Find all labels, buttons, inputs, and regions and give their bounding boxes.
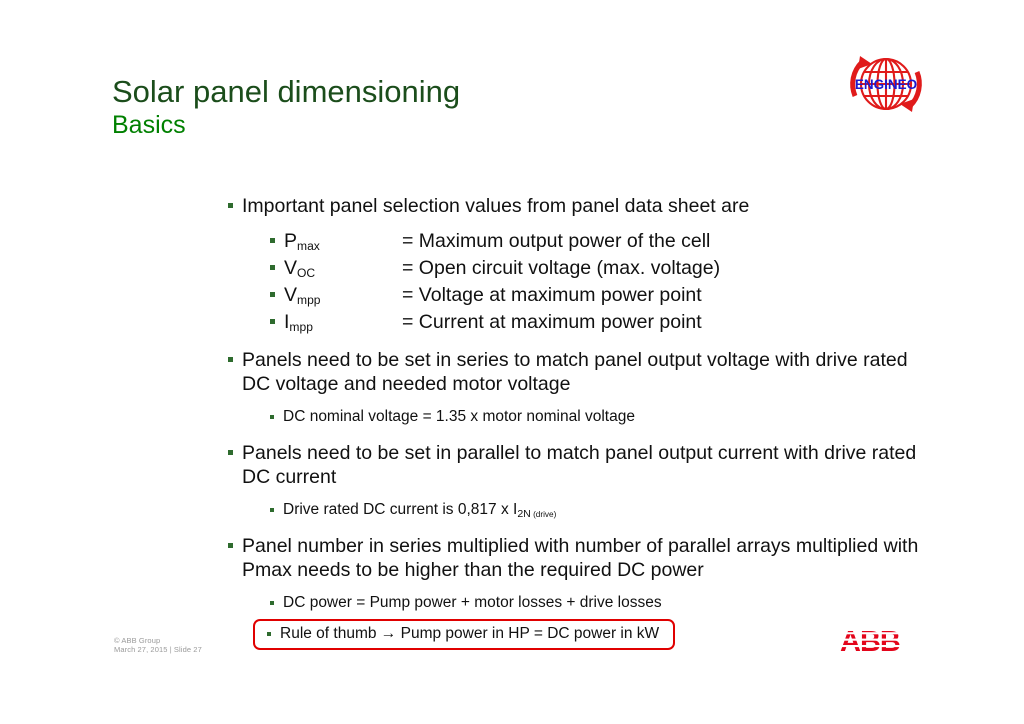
symbol-definition-voc: = Open circuit voltage (max. voltage) [402,256,720,280]
abb-wordmark: ABB [840,626,900,654]
bullet-text: Important panel selection values from pa… [242,194,749,218]
page-subtitle: Basics [112,110,460,140]
bullet-square-icon [228,357,233,362]
symbol-definition-pmax: = Maximum output power of the cell [402,229,710,253]
bullet-parallel-sub: Drive rated DC current is 0,817 x I2N (d… [270,500,928,520]
bullet-text: Panels need to be set in parallel to mat… [242,441,928,489]
bullet-text: Panel number in series multiplied with n… [242,534,928,582]
bullet-square-icon [267,632,271,636]
bullet-square-icon [270,292,275,297]
footer-copyright: © ABB Group [114,636,202,645]
symbol-definition-impp: = Current at maximum power point [402,310,702,334]
bullet-square-icon [270,238,275,243]
bullet-square-icon [228,203,233,208]
bullet-parallel: Panels need to be set in parallel to mat… [228,441,928,489]
bullet-text: Drive rated DC current is 0,817 x I2N (d… [283,500,556,520]
slide-canvas: Solar panel dimensioning Basics [0,0,1024,724]
title-block: Solar panel dimensioning Basics [112,74,460,140]
bullet-square-icon [270,508,274,512]
bullet-symbol-pmax: Pmax = Maximum output power of the cell [270,229,928,253]
symbol-key-pmax: Pmax [284,229,402,253]
bullet-series-sub: DC nominal voltage = 1.35 x motor nomina… [270,407,928,427]
symbol-key-vmpp: Vmpp [284,283,402,307]
page-title: Solar panel dimensioning [112,74,460,110]
bullet-square-icon [270,601,274,605]
bullet-text: DC power = Pump power + motor losses + d… [283,593,662,613]
footer: © ABB Group March 27, 2015 | Slide 27 [114,636,202,654]
bullet-power-sub: DC power = Pump power + motor losses + d… [270,593,928,613]
symbol-definition-vmpp: = Voltage at maximum power point [402,283,702,307]
bullet-symbol-voc: VOC = Open circuit voltage (max. voltage… [270,256,928,280]
bullet-text: DC nominal voltage = 1.35 x motor nomina… [283,407,635,427]
engineo-wordmark: ENGINEO [855,77,917,92]
bullet-square-icon [270,319,275,324]
slide-content: Important panel selection values from pa… [228,194,928,650]
footer-date-slide: March 27, 2015 | Slide 27 [114,645,202,654]
symbol-key-voc: VOC [284,256,402,280]
symbol-key-impp: Impp [284,310,402,334]
rule-of-thumb-callout: Rule of thumb → Pump power in HP = DC po… [253,619,675,650]
abb-logo: ABB [840,626,918,654]
bullet-power: Panel number in series multiplied with n… [228,534,928,582]
rule-of-thumb-text: Rule of thumb → Pump power in HP = DC po… [280,624,659,644]
bullet-series: Panels need to be set in series to match… [228,348,928,396]
engineo-logo: ENGINEO [836,48,936,120]
bullet-square-icon [270,415,274,419]
bullet-square-icon [270,265,275,270]
bullet-square-icon [228,450,233,455]
bullet-text: Panels need to be set in series to match… [242,348,928,396]
bullet-symbol-vmpp: Vmpp = Voltage at maximum power point [270,283,928,307]
bullet-square-icon [228,543,233,548]
bullet-intro: Important panel selection values from pa… [228,194,928,218]
bullet-symbol-impp: Impp = Current at maximum power point [270,310,928,334]
